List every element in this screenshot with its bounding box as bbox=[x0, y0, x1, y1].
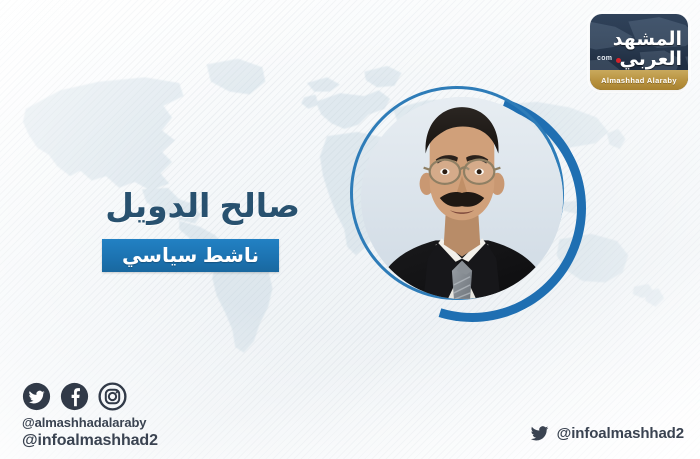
handle-secondary[interactable]: @infoalmashhad2 bbox=[22, 431, 158, 451]
twitter-icon[interactable] bbox=[22, 382, 51, 411]
logo-red-dot bbox=[616, 58, 621, 63]
facebook-icon[interactable] bbox=[60, 382, 89, 411]
social-icon-row bbox=[22, 382, 158, 411]
footer-twitter-block[interactable]: @infoalmashhad2 bbox=[530, 423, 684, 443]
portrait-container bbox=[348, 84, 596, 332]
role-badge: ناشط سياسي bbox=[102, 239, 279, 272]
logo-strip: Almashhad Alaraby bbox=[590, 70, 688, 90]
channel-logo[interactable]: المشهد العربي com Almashhad Alaraby bbox=[590, 14, 688, 90]
social-handles: @almashhadalaraby @infoalmashhad2 bbox=[22, 415, 158, 451]
role-badge-label: ناشط سياسي bbox=[122, 243, 259, 268]
person-name: صالح الدويل bbox=[0, 186, 300, 225]
promo-card: المشهد العربي com Almashhad Alaraby bbox=[0, 0, 700, 459]
logo-com-label: com bbox=[597, 55, 612, 62]
portrait-photo bbox=[361, 97, 563, 299]
instagram-icon[interactable] bbox=[98, 382, 127, 411]
handle-primary[interactable]: @almashhadalaraby bbox=[22, 415, 158, 431]
twitter-icon bbox=[530, 423, 550, 443]
footer-twitter-handle: @infoalmashhad2 bbox=[557, 425, 684, 442]
social-block: @almashhadalaraby @infoalmashhad2 bbox=[22, 382, 158, 451]
logo-arabic-line-1: المشهد bbox=[590, 30, 682, 49]
logo-strip-label: Almashhad Alaraby bbox=[601, 76, 677, 85]
portrait-ring-inner bbox=[350, 86, 564, 300]
